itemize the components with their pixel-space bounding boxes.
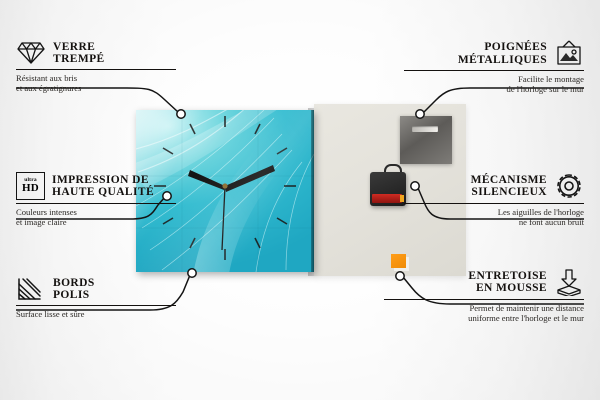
feature-title: BORDS POLIS: [53, 277, 95, 302]
feature-description: Facilite le montage de l'horloge sur le …: [404, 74, 584, 94]
feature-rule: [16, 69, 176, 70]
foam-spacer-sample: [391, 254, 406, 268]
battery: [372, 194, 402, 203]
feature-title: MÉCANISME SILENCIEUX: [471, 174, 547, 199]
feature-rule: [384, 299, 584, 300]
feature-title: POIGNÉES MÉTALLIQUES: [458, 41, 547, 66]
hanging-frame-icon: [554, 40, 584, 67]
feature-rule: [404, 70, 584, 71]
diamond-icon: [16, 40, 46, 66]
bracket-slot: [412, 126, 438, 132]
feature-rule: [404, 203, 584, 204]
feature-poignees-metalliques: POIGNÉES MÉTALLIQUES Facilite le montage…: [404, 40, 584, 94]
polished-edges-icon: [16, 276, 46, 302]
infographic-canvas: VERRE TREMPÉ Résistant aux bris et aux é…: [0, 0, 600, 400]
feature-head: ultra HD IMPRESSION DE HAUTE QUALITÉ: [16, 172, 176, 200]
gear-icon: [554, 172, 584, 200]
feature-description: Résistant aux bris et aux égratignures: [16, 73, 176, 93]
feature-verre-trempe: VERRE TREMPÉ Résistant aux bris et aux é…: [16, 40, 176, 93]
feature-impression-haute-qualite: ultra HD IMPRESSION DE HAUTE QUALITÉ Cou…: [16, 172, 176, 227]
feature-mecanisme-silencieux: MÉCANISME SILENCIEUX Les aiguilles de l'…: [404, 172, 584, 227]
feature-description: Surface lisse et sûre: [16, 309, 176, 319]
ultra-hd-icon-big-label: HD: [22, 183, 39, 194]
ultra-hd-icon: ultra HD: [16, 172, 45, 200]
feature-head: BORDS POLIS: [16, 276, 176, 302]
feature-title: VERRE TREMPÉ: [53, 41, 105, 66]
foam-spacer-icon: [554, 268, 584, 296]
feature-head: ENTRETOISE EN MOUSSE: [384, 268, 584, 296]
feature-description: Couleurs intenses et image claire: [16, 207, 176, 227]
feature-description: Les aiguilles de l'horloge ne font aucun…: [404, 207, 584, 227]
clock-center-cap: [222, 183, 227, 188]
feature-head: POIGNÉES MÉTALLIQUES: [404, 40, 584, 67]
metal-bracket-sample: [400, 116, 452, 164]
feature-title: IMPRESSION DE HAUTE QUALITÉ: [52, 174, 154, 199]
feature-description: Permet de maintenir une distance uniform…: [384, 303, 584, 323]
feature-rule: [16, 305, 176, 306]
feature-bords-polis: BORDS POLIS Surface lisse et sûre: [16, 276, 176, 319]
feature-head: VERRE TREMPÉ: [16, 40, 176, 66]
feature-entretoise-en-mousse: ENTRETOISE EN MOUSSE Permet de maintenir…: [384, 268, 584, 323]
hour-hand: [188, 170, 225, 190]
feature-rule: [16, 203, 176, 204]
panel-right-edge: [311, 110, 314, 272]
feature-head: MÉCANISME SILENCIEUX: [404, 172, 584, 200]
feature-title: ENTRETOISE EN MOUSSE: [468, 270, 547, 295]
